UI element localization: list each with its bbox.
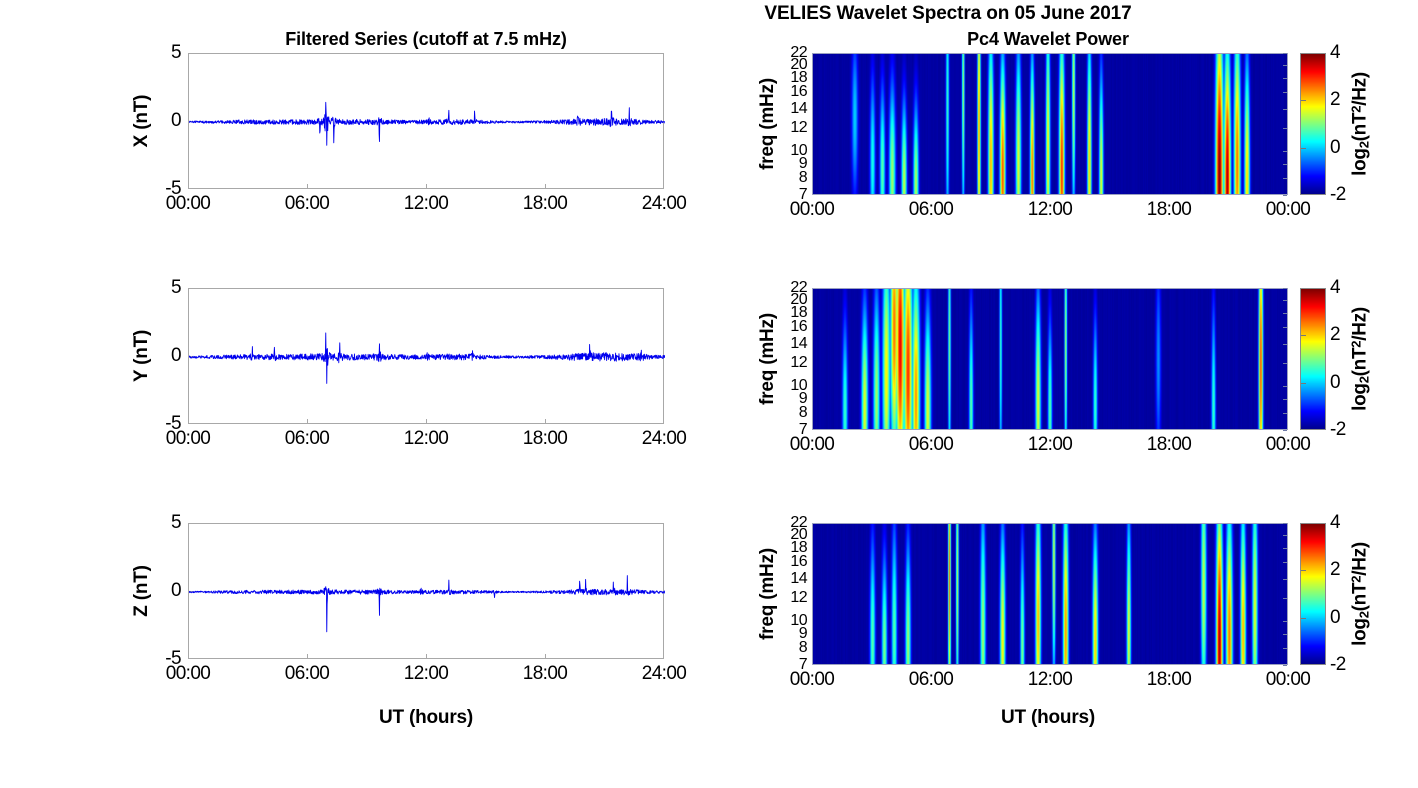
spectrogram-ytick-mark-x-8 (1283, 178, 1287, 179)
spectrogram-ytick-mark-x-3 (1283, 92, 1287, 93)
timeseries-ytick-x-1: 0 (171, 110, 181, 132)
colorbar-tick-y-3: -2 (1330, 419, 1346, 441)
spectrogram-ylabel-z: freq (mHz) (757, 548, 779, 640)
spectrogram-ytick-mark-z-3 (1283, 562, 1287, 563)
timeseries-xtick-y-0: 00:00 (166, 428, 211, 450)
spectrogram-axes-z (812, 523, 1288, 665)
spectrogram-ytick-mark-z-5 (1283, 598, 1287, 599)
colorbar-tick-z-2: 0 (1330, 607, 1340, 629)
spectrogram-ytick-mark-x-1 (1283, 65, 1287, 66)
spectrogram-ytick-z-4: 14 (790, 570, 807, 588)
left-xaxis-label: UT (hours) (379, 707, 473, 729)
spectrogram-ytick-mark-x-4 (1283, 109, 1287, 110)
colorbar-y (1300, 288, 1326, 430)
colorbar-z (1300, 523, 1326, 665)
timeseries-ytick-z-1: 0 (171, 580, 181, 602)
spectrogram-ytick-x-5: 12 (790, 119, 807, 137)
timeseries-xtick-y-3: 18:00 (523, 428, 568, 450)
right-column-title: Pc4 Wavelet Power (967, 29, 1129, 50)
timeseries-ytick-y-0: 5 (171, 277, 181, 299)
spectrogram-ytick-mark-x-9 (1283, 195, 1287, 196)
spectrogram-xtick-y-2: 12:00 (1028, 434, 1073, 456)
timeseries-xtick-x-0: 00:00 (166, 193, 211, 215)
timeseries-xtick-x-3: 18:00 (523, 193, 568, 215)
timeseries-trace-x (189, 54, 665, 190)
colorbar-label-y: log2(nT2/Hz) (1349, 307, 1372, 411)
spectrogram-ytick-mark-z-4 (1283, 579, 1287, 580)
timeseries-xtick-x-1: 06:00 (285, 193, 330, 215)
timeseries-xtick-z-0: 00:00 (166, 663, 211, 685)
colorbar-tick-x-1: 2 (1330, 89, 1340, 111)
spectrogram-ytick-mark-z-9 (1283, 665, 1287, 666)
timeseries-xtick-z-4: 24:00 (642, 663, 687, 685)
colorbar-x (1300, 53, 1326, 195)
spectrogram-ytick-mark-y-7 (1283, 399, 1287, 400)
colorbar-tick-mark-x-2 (1301, 148, 1306, 149)
spectrogram-ytick-y-8: 8 (799, 404, 807, 422)
timeseries-ylabel-z: Z (nT) (131, 565, 153, 617)
right-xaxis-label: UT (hours) (1001, 707, 1095, 729)
spectrogram-ytick-mark-z-1 (1283, 535, 1287, 536)
timeseries-xtick-x-2: 12:00 (404, 193, 449, 215)
colorbar-tick-z-3: -2 (1330, 654, 1346, 676)
spectrogram-ytick-mark-x-0 (1283, 53, 1287, 54)
spectrogram-image-x (813, 54, 1287, 194)
spectrogram-ytick-z-3: 16 (790, 553, 807, 571)
spectrogram-xtick-y-1: 06:00 (909, 434, 954, 456)
spectrogram-xtick-y-0: 00:00 (790, 434, 835, 456)
spectrogram-ytick-mark-y-6 (1283, 386, 1287, 387)
spectrogram-ytick-mark-z-0 (1283, 523, 1287, 524)
spectrogram-ylabel-x: freq (mHz) (757, 78, 779, 170)
timeseries-xtick-y-4: 24:00 (642, 428, 687, 450)
colorbar-tick-x-2: 0 (1330, 137, 1340, 159)
colorbar-tick-x-3: -2 (1330, 184, 1346, 206)
spectrogram-xtick-y-3: 18:00 (1147, 434, 1192, 456)
colorbar-tick-mark-z-1 (1301, 570, 1306, 571)
timeseries-xtick-y-1: 06:00 (285, 428, 330, 450)
timeseries-ytick-y-1: 0 (171, 345, 181, 367)
spectrogram-ytick-y-5: 12 (790, 354, 807, 372)
spectrogram-xtick-x-4: 00:00 (1266, 199, 1311, 221)
colorbar-tick-y-2: 0 (1330, 372, 1340, 394)
spectrogram-ytick-mark-x-5 (1283, 128, 1287, 129)
spectrogram-xtick-x-2: 12:00 (1028, 199, 1073, 221)
left-column-title: Filtered Series (cutoff at 7.5 mHz) (285, 29, 567, 50)
timeseries-trace-z (189, 524, 665, 660)
timeseries-xtick-z-2: 12:00 (404, 663, 449, 685)
colorbar-tick-mark-y-1 (1301, 335, 1306, 336)
colorbar-tick-mark-x-1 (1301, 100, 1306, 101)
spectrogram-ytick-mark-x-2 (1283, 78, 1287, 79)
spectrogram-xtick-x-3: 18:00 (1147, 199, 1192, 221)
spectrogram-ytick-x-4: 14 (790, 100, 807, 118)
timeseries-xtick-y-2: 12:00 (404, 428, 449, 450)
spectrogram-ytick-mark-y-1 (1283, 300, 1287, 301)
spectrogram-axes-y (812, 288, 1288, 430)
spectrogram-image-y (813, 289, 1287, 429)
timeseries-ytick-x-0: 5 (171, 42, 181, 64)
spectrogram-ytick-mark-y-8 (1283, 413, 1287, 414)
timeseries-xtick-x-4: 24:00 (642, 193, 687, 215)
spectrogram-ytick-x-3: 16 (790, 83, 807, 101)
colorbar-tick-y-0: 4 (1330, 277, 1340, 299)
colorbar-gradient-y (1301, 289, 1325, 429)
spectrogram-ytick-x-8: 8 (799, 169, 807, 187)
timeseries-xtick-z-1: 06:00 (285, 663, 330, 685)
spectrogram-ytick-mark-x-6 (1283, 151, 1287, 152)
spectrogram-xtick-z-0: 00:00 (790, 669, 835, 691)
spectrogram-xtick-x-1: 06:00 (909, 199, 954, 221)
timeseries-ylabel-x: X (nT) (131, 95, 153, 148)
spectrogram-ytick-mark-y-3 (1283, 327, 1287, 328)
colorbar-tick-mark-z-2 (1301, 618, 1306, 619)
colorbar-tick-y-1: 2 (1330, 324, 1340, 346)
spectrogram-ytick-mark-z-6 (1283, 621, 1287, 622)
spectrogram-ytick-mark-x-7 (1283, 164, 1287, 165)
spectrogram-ylabel-y: freq (mHz) (757, 313, 779, 405)
spectrogram-ytick-mark-y-4 (1283, 344, 1287, 345)
colorbar-tick-z-1: 2 (1330, 559, 1340, 581)
spectrogram-image-z (813, 524, 1287, 664)
colorbar-tick-x-0: 4 (1330, 42, 1340, 64)
figure-title: VELIES Wavelet Spectra on 05 June 2017 (764, 3, 1131, 25)
spectrogram-axes-x (812, 53, 1288, 195)
spectrogram-ytick-y-3: 16 (790, 318, 807, 336)
spectrogram-xtick-x-0: 00:00 (790, 199, 835, 221)
spectrogram-ytick-mark-z-2 (1283, 548, 1287, 549)
timeseries-xtick-z-3: 18:00 (523, 663, 568, 685)
spectrogram-ytick-mark-y-0 (1283, 288, 1287, 289)
timeseries-ylabel-y: Y (nT) (131, 330, 153, 382)
spectrogram-xtick-z-4: 00:00 (1266, 669, 1311, 691)
spectrogram-ytick-mark-z-7 (1283, 634, 1287, 635)
spectrogram-ytick-mark-y-2 (1283, 313, 1287, 314)
spectrogram-xtick-z-2: 12:00 (1028, 669, 1073, 691)
colorbar-label-x: log2(nT2/Hz) (1349, 72, 1372, 176)
spectrogram-xtick-z-1: 06:00 (909, 669, 954, 691)
timeseries-trace-y (189, 289, 665, 425)
spectrogram-ytick-y-4: 14 (790, 335, 807, 353)
colorbar-label-z: log2(nT2/Hz) (1349, 542, 1372, 646)
colorbar-tick-z-0: 4 (1330, 512, 1340, 534)
spectrogram-ytick-mark-z-8 (1283, 648, 1287, 649)
colorbar-tick-mark-y-2 (1301, 383, 1306, 384)
colorbar-gradient-x (1301, 54, 1325, 194)
spectrogram-xtick-y-4: 00:00 (1266, 434, 1311, 456)
spectrogram-ytick-mark-y-9 (1283, 430, 1287, 431)
timeseries-ytick-z-0: 5 (171, 512, 181, 534)
spectrogram-ytick-z-5: 12 (790, 589, 807, 607)
spectrogram-xtick-z-3: 18:00 (1147, 669, 1192, 691)
colorbar-gradient-z (1301, 524, 1325, 664)
spectrogram-ytick-z-8: 8 (799, 639, 807, 657)
spectrogram-ytick-mark-y-5 (1283, 363, 1287, 364)
